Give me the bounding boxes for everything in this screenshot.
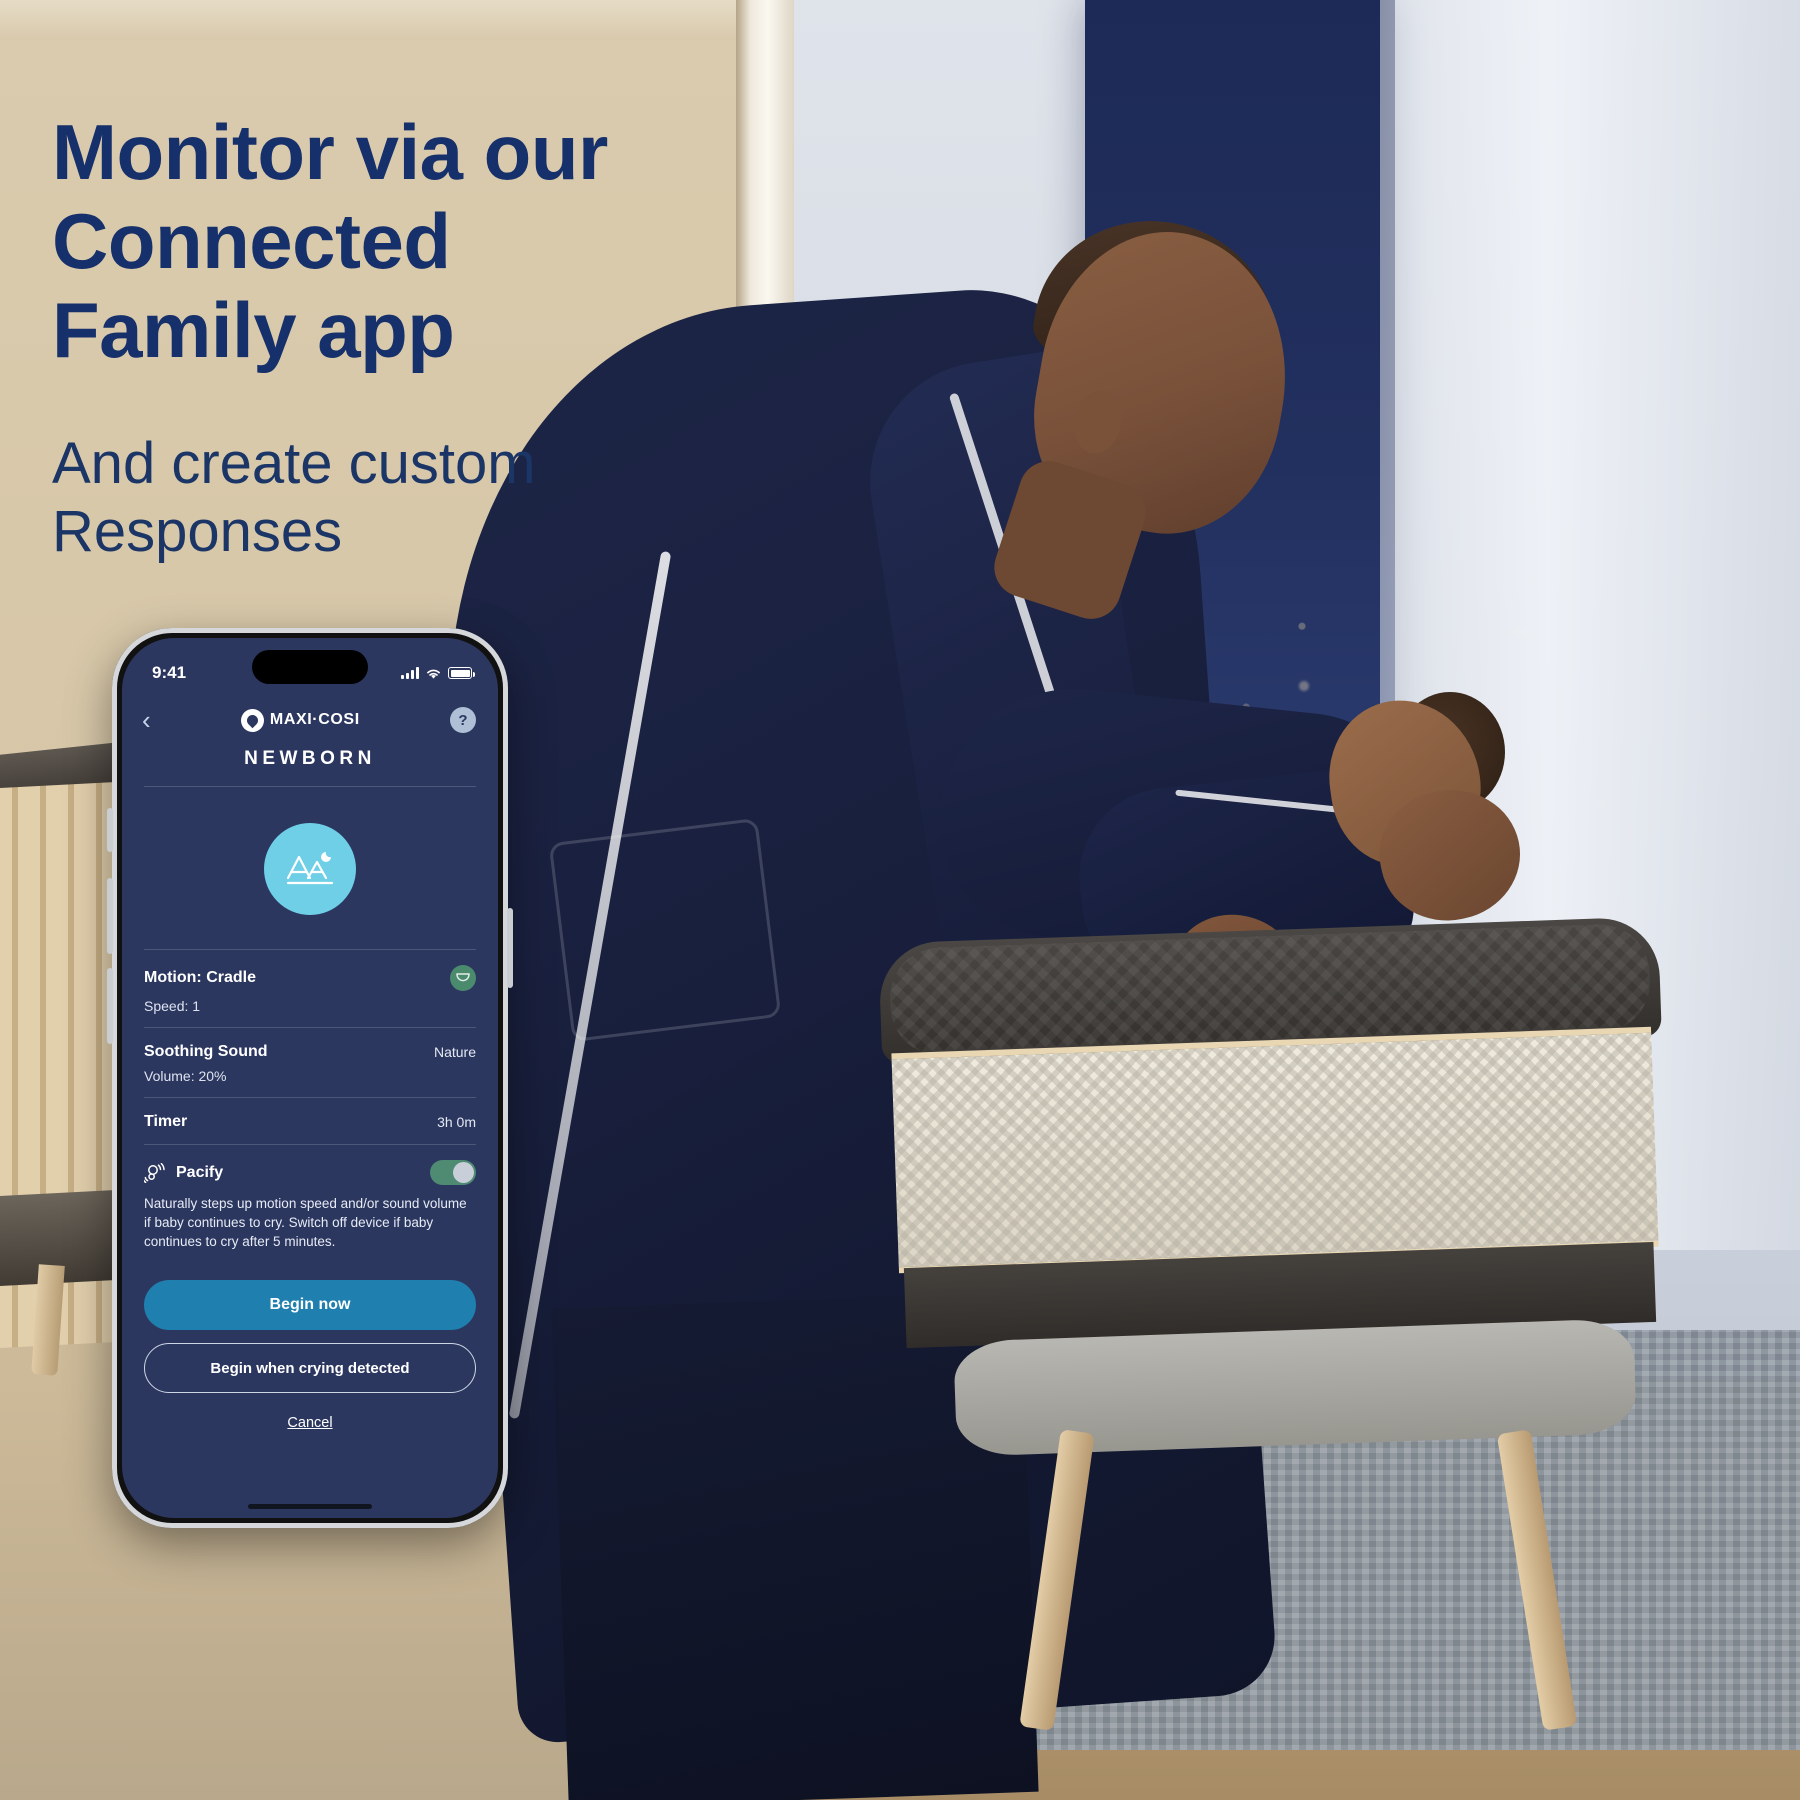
screen-title: NEWBORN <box>122 748 498 770</box>
volume-down-button[interactable] <box>107 968 113 1044</box>
setting-title: Motion: Cradle <box>144 969 256 987</box>
robe-pocket <box>549 818 782 1042</box>
help-button[interactable]: ? <box>450 707 476 733</box>
battery-full-icon <box>448 667 472 679</box>
page-subtitle: And create custom Responses <box>52 430 712 567</box>
signal-bars-icon <box>401 667 419 679</box>
setting-title: Timer <box>144 1113 187 1131</box>
maxi-cosi-logo-icon <box>241 709 264 732</box>
setting-subvalue: Speed: 1 <box>144 998 476 1014</box>
cancel-button[interactable]: Cancel <box>287 1415 332 1431</box>
setting-row-soothing-sound[interactable]: Soothing Sound Nature Volume: 20% <box>144 1027 476 1097</box>
brand-logo: MAXI·COSI <box>241 709 360 732</box>
setting-title: Soothing Sound <box>144 1043 268 1061</box>
mode-icon-container <box>122 823 498 915</box>
pacify-header: Pacify <box>144 1163 223 1183</box>
pacify-toggle[interactable] <box>430 1160 476 1185</box>
dynamic-island <box>252 650 368 684</box>
settings-list: Motion: Cradle Speed: 1 Soothing Sound N… <box>122 949 498 1264</box>
brand-name: MAXI·COSI <box>270 711 360 729</box>
pacify-label: Pacify <box>176 1164 223 1182</box>
ceiling <box>0 0 770 40</box>
pacify-description: Naturally steps up motion speed and/or s… <box>144 1194 476 1251</box>
power-button[interactable] <box>507 908 513 988</box>
setting-subvalue: Volume: 20% <box>144 1068 476 1084</box>
app-screen: 9:41 ‹ MAXI·COSI ? NEWBORN <box>122 638 498 1518</box>
toggle-knob <box>453 1162 474 1183</box>
setting-value: Nature <box>434 1044 476 1060</box>
mute-switch[interactable] <box>107 808 113 852</box>
setting-row-timer[interactable]: Timer 3h 0m <box>144 1097 476 1144</box>
mountains-moon-night-icon[interactable] <box>264 823 356 915</box>
bassinet-mesh-panel <box>891 1027 1658 1273</box>
action-buttons: Begin now Begin when crying detected Can… <box>122 1280 498 1431</box>
begin-when-crying-detected-button[interactable]: Begin when crying detected <box>144 1343 476 1393</box>
status-time: 9:41 <box>152 663 186 683</box>
phone-mockup: 9:41 ‹ MAXI·COSI ? NEWBORN <box>112 628 508 1528</box>
app-navigation-bar: ‹ MAXI·COSI ? <box>122 694 498 740</box>
setting-value: 3h 0m <box>437 1114 476 1130</box>
home-indicator <box>248 1504 372 1509</box>
cradle-motion-icon <box>450 965 476 991</box>
pacify-sound-icon <box>144 1163 166 1183</box>
setting-row-pacify[interactable]: Pacify Naturally steps up motion speed a… <box>144 1144 476 1264</box>
setting-row-motion[interactable]: Motion: Cradle Speed: 1 <box>144 949 476 1027</box>
bassinet-stand <box>953 1318 1637 1457</box>
volume-up-button[interactable] <box>107 878 113 954</box>
wifi-icon <box>425 667 442 680</box>
begin-now-button[interactable]: Begin now <box>144 1280 476 1330</box>
header-divider <box>144 786 476 787</box>
page-title: Monitor via our Connected Family app <box>52 108 712 375</box>
chevron-left-icon[interactable]: ‹ <box>142 707 151 733</box>
status-indicators <box>401 667 472 680</box>
